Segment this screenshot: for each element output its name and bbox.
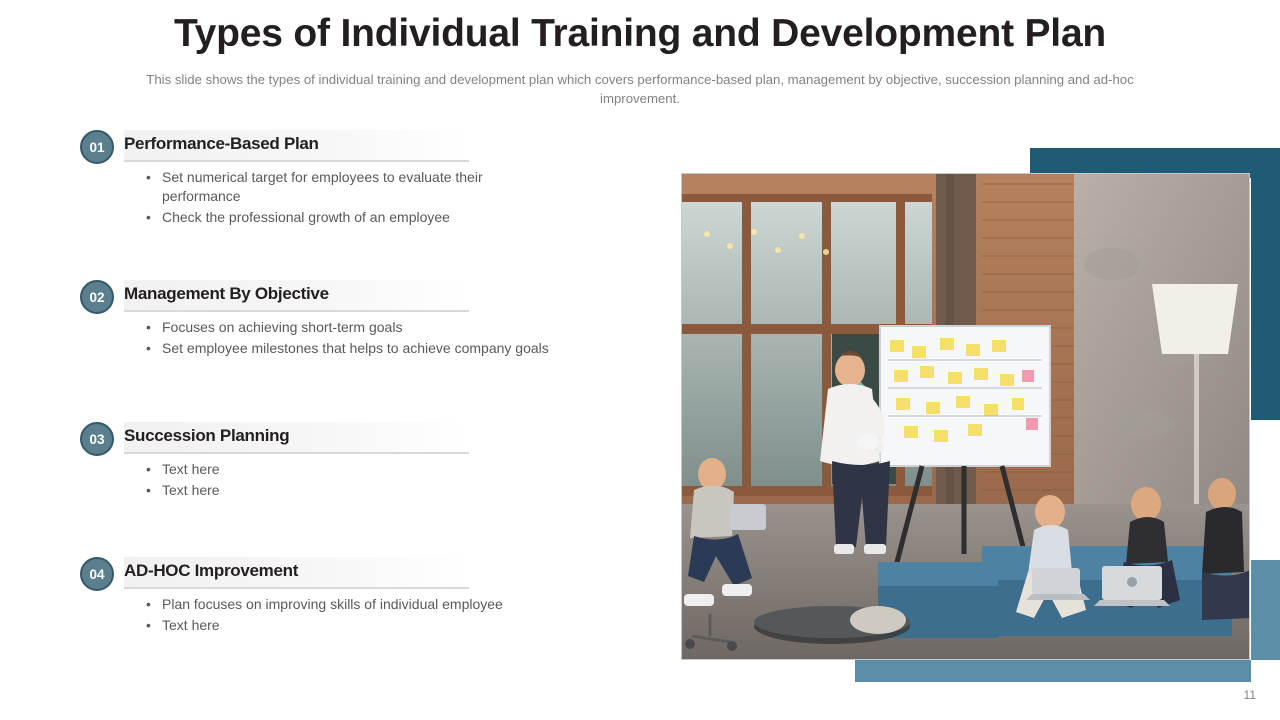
page-subtitle: This slide shows the types of individual… <box>128 70 1152 108</box>
item-heading-rule <box>124 310 469 312</box>
item-bullets: Plan focuses on improving skills of indi… <box>140 595 560 637</box>
item-heading-container: Performance-Based Plan <box>124 130 469 162</box>
item-heading-container: Management By Objective <box>124 280 469 312</box>
item-heading-container: AD-HOC Improvement <box>124 557 469 589</box>
item-number-badge: 01 <box>80 130 114 164</box>
bullet-item: Set numerical target for employees to ev… <box>140 168 560 206</box>
decorative-bar-right-lower <box>1251 560 1280 660</box>
page-title: Types of Individual Training and Develop… <box>0 12 1280 56</box>
bullet-item: Set employee milestones that helps to ac… <box>140 339 560 358</box>
bullet-item: Focuses on achieving short-term goals <box>140 318 560 337</box>
item-number-badge: 02 <box>80 280 114 314</box>
slide-root: Types of Individual Training and Develop… <box>0 0 1280 720</box>
item-heading-text: Management By Objective <box>124 284 329 304</box>
bullet-item: Text here <box>140 460 560 479</box>
team-meeting-whiteboard-photo <box>681 173 1250 660</box>
bullet-item: Check the professional growth of an empl… <box>140 208 560 227</box>
bullet-item: Text here <box>140 481 560 500</box>
item-heading-rule <box>124 587 469 589</box>
item-bullets: Set numerical target for employees to ev… <box>140 168 560 229</box>
decorative-bar-bottom <box>855 660 1251 682</box>
item-heading-rule <box>124 160 469 162</box>
item-bullets: Focuses on achieving short-term goals Se… <box>140 318 560 360</box>
item-bullets: Text here Text here <box>140 460 560 502</box>
item-number-badge: 03 <box>80 422 114 456</box>
bullet-item: Text here <box>140 616 560 635</box>
decorative-bar-right <box>1251 148 1280 420</box>
page-number: 11 <box>1244 688 1256 702</box>
bullet-item: Plan focuses on improving skills of indi… <box>140 595 560 614</box>
item-heading-text: Performance-Based Plan <box>124 134 319 154</box>
item-heading-rule <box>124 452 469 454</box>
item-heading-container: Succession Planning <box>124 422 469 454</box>
item-heading-text: AD-HOC Improvement <box>124 561 298 581</box>
item-heading-text: Succession Planning <box>124 426 289 446</box>
photo-illustration <box>682 174 1249 659</box>
item-number-badge: 04 <box>80 557 114 591</box>
